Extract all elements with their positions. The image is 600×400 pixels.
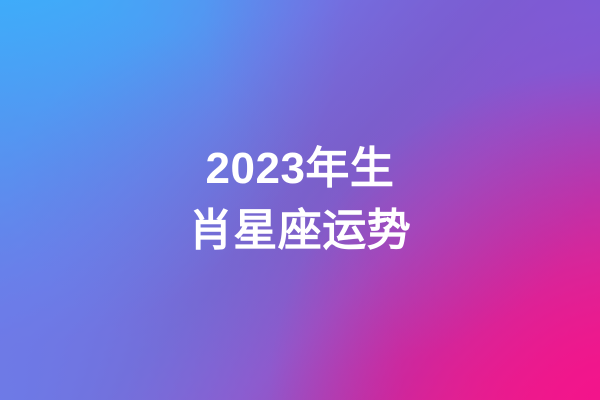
- banner-title-block: 2023年生 肖星座运势: [0, 0, 600, 400]
- banner-canvas: 2023年生 肖星座运势: [0, 0, 600, 400]
- banner-title-line-1: 2023年生: [206, 140, 395, 198]
- banner-title-line-2: 肖星座运势: [189, 202, 412, 260]
